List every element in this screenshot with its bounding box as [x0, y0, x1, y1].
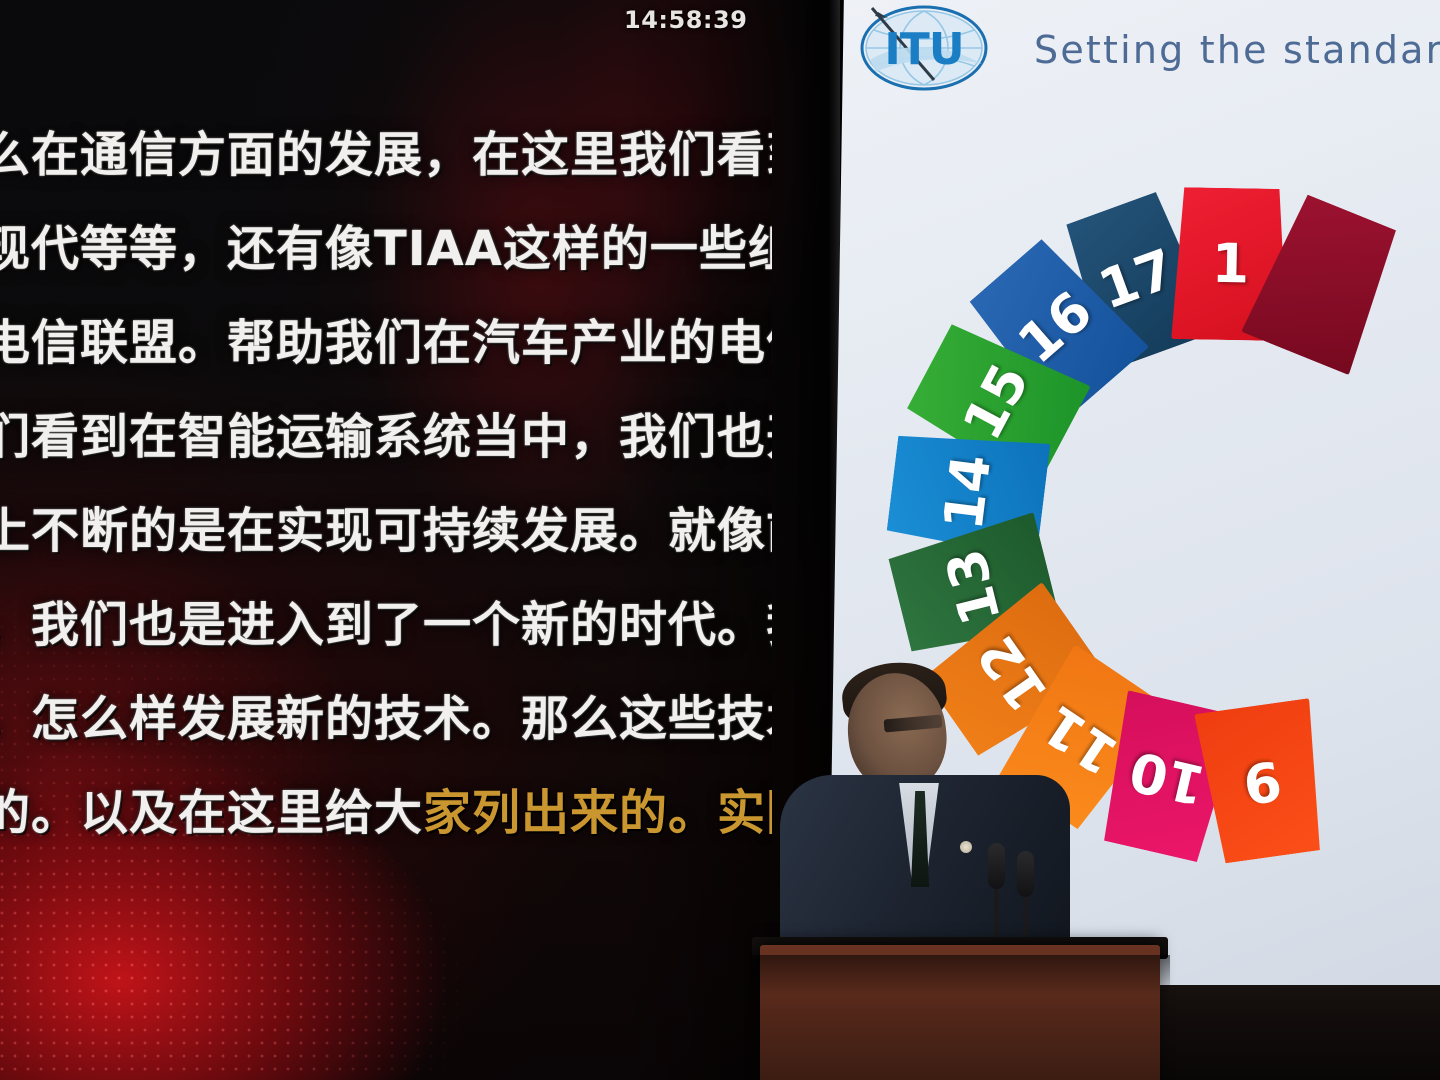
- subtitle-line: ，怎么样发展新的技术。那么这些技术应当是对于: [0, 672, 772, 766]
- svg-text:ITU: ITU: [884, 24, 963, 75]
- slide-header: ITU Setting the standar: [836, 0, 1440, 102]
- subtitle-line: 么在通信方面的发展，在这里我们看到一些汽车的: [0, 108, 772, 202]
- subtitle-block: 么在通信方面的发展，在这里我们看到一些汽车的 现代等等，还有像TIAA这样的一些…: [0, 108, 772, 860]
- subtitle-text: 上不断的是在实现可持续发展。就像前面我们的省: [0, 503, 772, 559]
- microphone: [1017, 851, 1034, 897]
- subtitle-highlight: 家列出来的。实际上呢: [423, 785, 772, 841]
- sdg-number: 1: [1211, 237, 1250, 292]
- subtitle-text: 现代等等，还有像TIAA这样的一些组织也都是加: [0, 221, 772, 277]
- subtitle-text: 的。以及在这里给大: [0, 785, 423, 841]
- subtitle-line: 们看到在智能运输系统当中，我们也开展了许多的: [0, 390, 772, 484]
- subtitle-text: 们看到在智能运输系统当中，我们也开展了许多的: [0, 409, 772, 465]
- subtitle-text: 电信联盟。帮助我们在汽车产业的电信产业的发: [0, 315, 772, 371]
- microphone: [988, 843, 1005, 889]
- subtitle-line: 电信联盟。帮助我们在汽车产业的电信产业的发: [0, 296, 772, 390]
- podium-shadow: [750, 955, 1170, 995]
- subtitle-text: ，我们也是进入到了一个新的时代。我们看到了一: [0, 597, 772, 653]
- sdg-number: 13: [938, 544, 1009, 630]
- recording-timestamp: 14:58:39: [624, 6, 824, 40]
- subtitle-line: 现代等等，还有像TIAA这样的一些组织也都是加: [0, 202, 772, 296]
- subtitle-text: ，怎么样发展新的技术。那么这些技术应当是对于: [0, 691, 772, 747]
- speaker-lapel-pin: [960, 841, 972, 853]
- itu-tagline: Setting the standar: [1034, 28, 1440, 72]
- conference-video-frame: 14:58:39 么在通信方面的发展，在这里我们看到一些汽车的 现代等等，还有像…: [0, 0, 1440, 1080]
- sdg-number: 15: [955, 356, 1038, 448]
- sdg-number: 14: [937, 452, 1000, 533]
- subtitle-line: 上不断的是在实现可持续发展。就像前面我们的省: [0, 484, 772, 578]
- itu-logo: ITU: [858, 2, 990, 94]
- subtitle-text: 么在通信方面的发展，在这里我们看到一些汽车的: [0, 127, 772, 183]
- sdg-number: 9: [1240, 752, 1285, 811]
- subtitle-line: ，我们也是进入到了一个新的时代。我们看到了一: [0, 578, 772, 672]
- subtitle-line: 的。以及在这里给大家列出来的。实际上呢: [0, 766, 772, 860]
- speaker-at-podium: [780, 655, 1140, 1080]
